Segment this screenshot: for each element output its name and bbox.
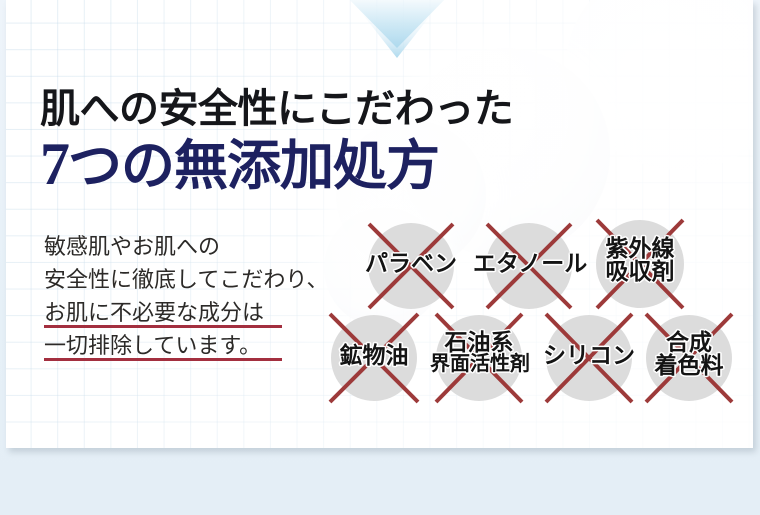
banner-stage: 肌への安全性にこだわった 7つの無添加処方 敏感肌やお肌への 安全性に徹底してこ… — [0, 0, 760, 515]
body-copy-block: 敏感肌やお肌への 安全性に徹底してこだわり、 お肌に不必要な成分は 一切排除して… — [44, 230, 306, 362]
badge-label: エタノール — [473, 252, 585, 275]
body-line: お肌に不必要な成分は — [44, 296, 282, 329]
body-line: 一切排除しています。 — [44, 329, 282, 362]
badge-petroleum-surfactant[interactable]: 石油系界面活性剤 — [430, 310, 528, 406]
body-line: 敏感肌やお肌への — [44, 230, 282, 263]
body-line: 安全性に徹底してこだわり、 — [44, 263, 282, 296]
badge-ethanol[interactable]: エタノール — [473, 218, 585, 314]
badge-paraben[interactable]: パラベン — [363, 218, 459, 314]
badge-label: 紫外線吸収剤 — [591, 237, 689, 284]
badge-label: 石油系界面活性剤 — [430, 331, 528, 375]
badge-label: シリコン — [536, 344, 642, 367]
headline-line-2: 7つの無添加処方 — [40, 132, 560, 197]
badge-uv-absorber[interactable]: 紫外線吸収剤 — [591, 214, 689, 314]
content-card: 肌への安全性にこだわった 7つの無添加処方 敏感肌やお肌への 安全性に徹底してこ… — [6, 0, 753, 448]
badge-label: パラベン — [363, 252, 459, 275]
badge-synthetic-colorant[interactable]: 合成着色料 — [640, 310, 738, 406]
headline-block: 肌への安全性にこだわった 7つの無添加処方 — [40, 88, 560, 197]
badge-label: 合成着色料 — [640, 331, 738, 378]
badge-silicone[interactable]: シリコン — [536, 310, 642, 406]
badge-mineral-oil[interactable]: 鉱物油 — [326, 310, 422, 406]
headline-line-2-text: つの無添加処方 — [68, 136, 439, 196]
badge-label: 鉱物油 — [326, 344, 422, 367]
headline-number: 7 — [40, 131, 68, 197]
headline-line-1: 肌への安全性にこだわった — [40, 88, 560, 130]
